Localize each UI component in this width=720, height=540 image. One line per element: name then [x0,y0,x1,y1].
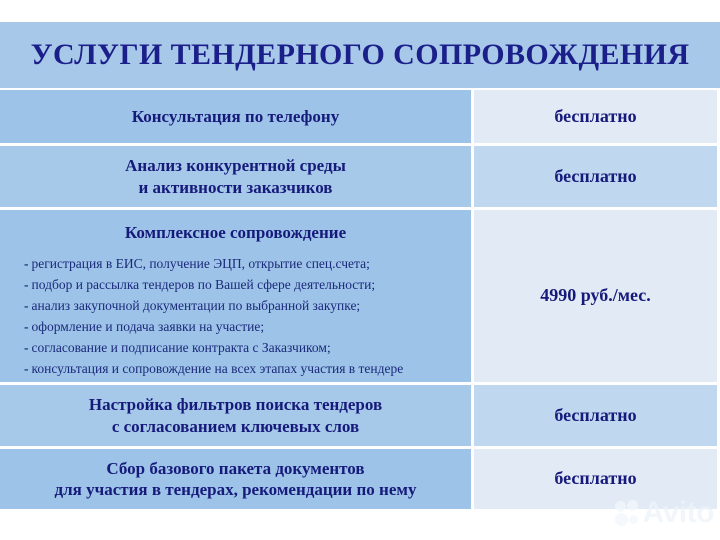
price-cell: бесплатно [474,385,717,446]
price-value: бесплатно [554,166,636,188]
service-cell: Сбор базового пакета документов для учас… [0,449,474,509]
list-item-text: оформление и подача заявки на участие; [32,319,265,334]
top-white-strip [0,0,720,22]
service-title-line: Сбор базового пакета документов [106,458,364,479]
price-cell: бесплатно [474,90,717,143]
table-row: Настройка фильтров поиска тендеров с сог… [0,385,720,449]
service-title-line: и активности заказчиков [139,177,333,198]
list-item: -подбор и рассылка тендеров по Вашей сфе… [24,275,475,296]
service-cell: Анализ конкурентной среды и активности з… [0,146,474,207]
bullet-dash: - [24,340,29,355]
service-title-line: для участия в тендерах, рекомендации по … [55,479,417,500]
price-cell: бесплатно [474,449,717,509]
list-item: -согласование и подписание контракта с З… [24,338,475,359]
list-item: -регистрация в ЕИС, получение ЭЦП, откры… [24,254,475,275]
price-cell: бесплатно [474,146,717,207]
service-title-line: с согласованием ключевых слов [112,416,359,437]
bullet-dash: - [24,319,29,334]
service-cell: Консультация по телефону [0,90,474,143]
bullet-dash: - [24,361,29,376]
list-item-text: подбор и рассылка тендеров по Вашей сфер… [32,277,376,292]
service-bullet-list: -регистрация в ЕИС, получение ЭЦП, откры… [10,254,475,380]
price-value: бесплатно [554,468,636,490]
price-value: 4990 руб./мес. [540,285,651,307]
poster-title-band: УСЛУГИ ТЕНДЕРНОГО СОПРОВОЖДЕНИЯ [0,22,720,88]
service-cell: Комплексное сопровождение -регистрация в… [0,210,474,382]
list-item-text: консультация и сопровождение на всех эта… [32,361,404,376]
bullet-dash: - [24,277,29,292]
price-value: бесплатно [554,106,636,128]
service-title-line: Комплексное сопровождение [10,222,461,243]
service-cell: Настройка фильтров поиска тендеров с сог… [0,385,474,446]
table-row: Сбор базового пакета документов для учас… [0,449,720,509]
table-row: Комплексное сопровождение -регистрация в… [0,210,720,385]
list-item-text: анализ закупочной документации по выбран… [32,298,361,313]
table-row: Анализ конкурентной среды и активности з… [0,146,720,210]
list-item: -консультация и сопровождение на всех эт… [24,359,475,380]
bullet-dash: - [24,298,29,313]
price-cell: 4990 руб./мес. [474,210,717,382]
list-item-text: согласование и подписание контракта с За… [32,340,331,355]
price-value: бесплатно [554,405,636,427]
list-item: -анализ закупочной документации по выбра… [24,296,475,317]
bullet-dash: - [24,256,29,271]
poster-root: УСЛУГИ ТЕНДЕРНОГО СОПРОВОЖДЕНИЯ Консульт… [0,0,720,540]
service-title-line: Настройка фильтров поиска тендеров [89,394,382,415]
service-title-line: Консультация по телефону [132,106,339,127]
list-item-text: регистрация в ЕИС, получение ЭЦП, открыт… [32,256,370,271]
page-title: УСЛУГИ ТЕНДЕРНОГО СОПРОВОЖДЕНИЯ [31,40,690,70]
list-item: -оформление и подача заявки на участие; [24,317,475,338]
bottom-white-strip [0,515,720,540]
table-row: Консультация по телефону бесплатно [0,90,720,146]
service-title-line: Анализ конкурентной среды [125,155,346,176]
services-price-table: Консультация по телефону бесплатно Анали… [0,90,720,515]
